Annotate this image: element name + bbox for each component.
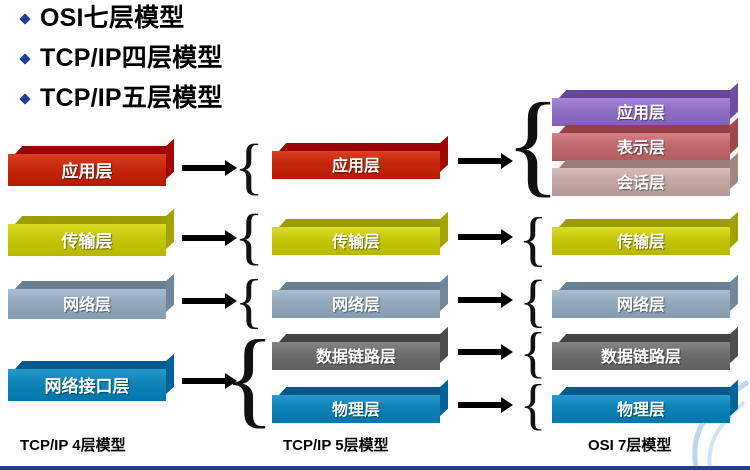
layer-label: 应用层 (62, 157, 113, 182)
right-arrow-icon (182, 235, 226, 241)
layer-label: 应用层 (332, 152, 380, 176)
layer-box-osi7-6[interactable]: 物理层 (552, 387, 730, 423)
layer-box-tcpip4-3[interactable]: 网络接口层 (8, 361, 166, 401)
curly-brace-icon: { (238, 140, 260, 196)
curly-brace-icon: { (238, 210, 260, 266)
layer-label: 数据链路层 (601, 343, 681, 367)
box-top-bevel (559, 90, 737, 98)
column-caption-osi7: OSI 7层模型 (588, 434, 671, 455)
layer-box-tcpip5-3[interactable]: 数据链路层 (272, 334, 440, 370)
layer-box-osi7-5[interactable]: 数据链路层 (552, 334, 730, 370)
box-right-bevel (440, 380, 448, 416)
box-top-bevel (15, 361, 173, 369)
layer-box-osi7-2[interactable]: 会话层 (552, 160, 730, 196)
box-right-bevel (440, 327, 448, 363)
box-top-bevel (15, 146, 173, 154)
box-top-bevel (279, 143, 447, 151)
layer-label: 传输层 (332, 228, 380, 252)
layer-label: 会话层 (617, 169, 665, 193)
box-right-bevel (166, 354, 174, 394)
layer-box-tcpip5-1[interactable]: 传输层 (272, 219, 440, 255)
bullet-item-2: TCP/IP五层模型 (18, 86, 223, 111)
box-top-bevel (15, 281, 173, 289)
slide-canvas: OSI七层模型 TCP/IP四层模型 TCP/IP五层模型 应用层 传输层 网络… (0, 0, 750, 470)
box-top-bevel (279, 219, 447, 227)
layer-box-tcpip4-0[interactable]: 应用层 (8, 146, 166, 186)
layer-box-tcpip5-4[interactable]: 物理层 (272, 387, 440, 423)
layer-box-tcpip5-2[interactable]: 网络层 (272, 282, 440, 318)
curly-brace-icon: { (238, 330, 260, 428)
box-right-bevel (440, 212, 448, 248)
bullet-item-1-label: TCP/IP四层模型 (40, 46, 223, 71)
diamond-bullet-icon (18, 52, 31, 65)
layer-label: 物理层 (617, 396, 665, 420)
layer-label: 数据链路层 (316, 343, 396, 367)
right-arrow-icon (458, 234, 502, 240)
bullet-item-1: TCP/IP四层模型 (18, 46, 223, 71)
box-top-bevel (559, 125, 737, 133)
layer-label: 传输层 (617, 228, 665, 252)
column-caption-tcpip4: TCP/IP 4层模型 (20, 434, 126, 455)
curly-brace-icon: { (522, 212, 544, 266)
curly-brace-icon: { (522, 92, 544, 196)
box-right-bevel (166, 139, 174, 179)
layer-label: 网络层 (332, 291, 380, 315)
column-caption-tcpip5: TCP/IP 5层模型 (283, 434, 389, 455)
curly-brace-icon: { (522, 380, 544, 430)
right-arrow-icon (458, 402, 502, 408)
layer-label: 应用层 (617, 99, 665, 123)
bottom-accent-bar (0, 466, 750, 470)
layer-label: 网络层 (63, 291, 111, 315)
curly-brace-icon: { (522, 328, 544, 378)
box-top-bevel (15, 216, 173, 224)
box-top-bevel (559, 334, 737, 342)
right-arrow-icon (458, 297, 502, 303)
layer-label: 传输层 (62, 227, 113, 252)
box-top-bevel (279, 387, 447, 395)
box-right-bevel (730, 212, 738, 248)
box-right-bevel (730, 83, 738, 119)
layer-box-osi7-0[interactable]: 应用层 (552, 90, 730, 126)
box-right-bevel (440, 275, 448, 311)
box-top-bevel (559, 282, 737, 290)
right-arrow-icon (182, 378, 226, 384)
layer-label: 表示层 (617, 134, 665, 158)
layer-box-tcpip4-1[interactable]: 传输层 (8, 216, 166, 256)
box-right-bevel (730, 275, 738, 311)
right-arrow-icon (458, 158, 502, 164)
box-right-bevel (730, 327, 738, 363)
box-right-bevel (166, 274, 174, 312)
box-top-bevel (279, 334, 447, 342)
box-right-bevel (166, 209, 174, 249)
box-right-bevel (730, 380, 738, 416)
box-top-bevel (279, 282, 447, 290)
layer-box-osi7-4[interactable]: 网络层 (552, 282, 730, 318)
box-top-bevel (559, 160, 737, 168)
bullet-item-2-label: TCP/IP五层模型 (40, 86, 223, 111)
box-top-bevel (559, 219, 737, 227)
layer-label: 网络接口层 (45, 372, 130, 397)
box-top-bevel (559, 387, 737, 395)
right-arrow-icon (458, 349, 502, 355)
diamond-bullet-icon (18, 12, 31, 25)
right-arrow-icon (182, 298, 226, 304)
box-right-bevel (730, 118, 738, 154)
layer-box-tcpip5-0[interactable]: 应用层 (272, 143, 440, 179)
bullet-item-0-label: OSI七层模型 (40, 6, 184, 31)
layer-box-osi7-3[interactable]: 传输层 (552, 219, 730, 255)
layer-label: 网络层 (617, 291, 665, 315)
layer-label: 物理层 (332, 396, 380, 420)
layer-box-osi7-1[interactable]: 表示层 (552, 125, 730, 161)
box-right-bevel (730, 153, 738, 189)
box-right-bevel (440, 136, 448, 172)
curly-brace-icon: { (522, 275, 544, 327)
layer-box-tcpip4-2[interactable]: 网络层 (8, 281, 166, 319)
diamond-bullet-icon (18, 92, 31, 105)
right-arrow-icon (182, 165, 226, 171)
bullet-item-0: OSI七层模型 (18, 6, 184, 31)
